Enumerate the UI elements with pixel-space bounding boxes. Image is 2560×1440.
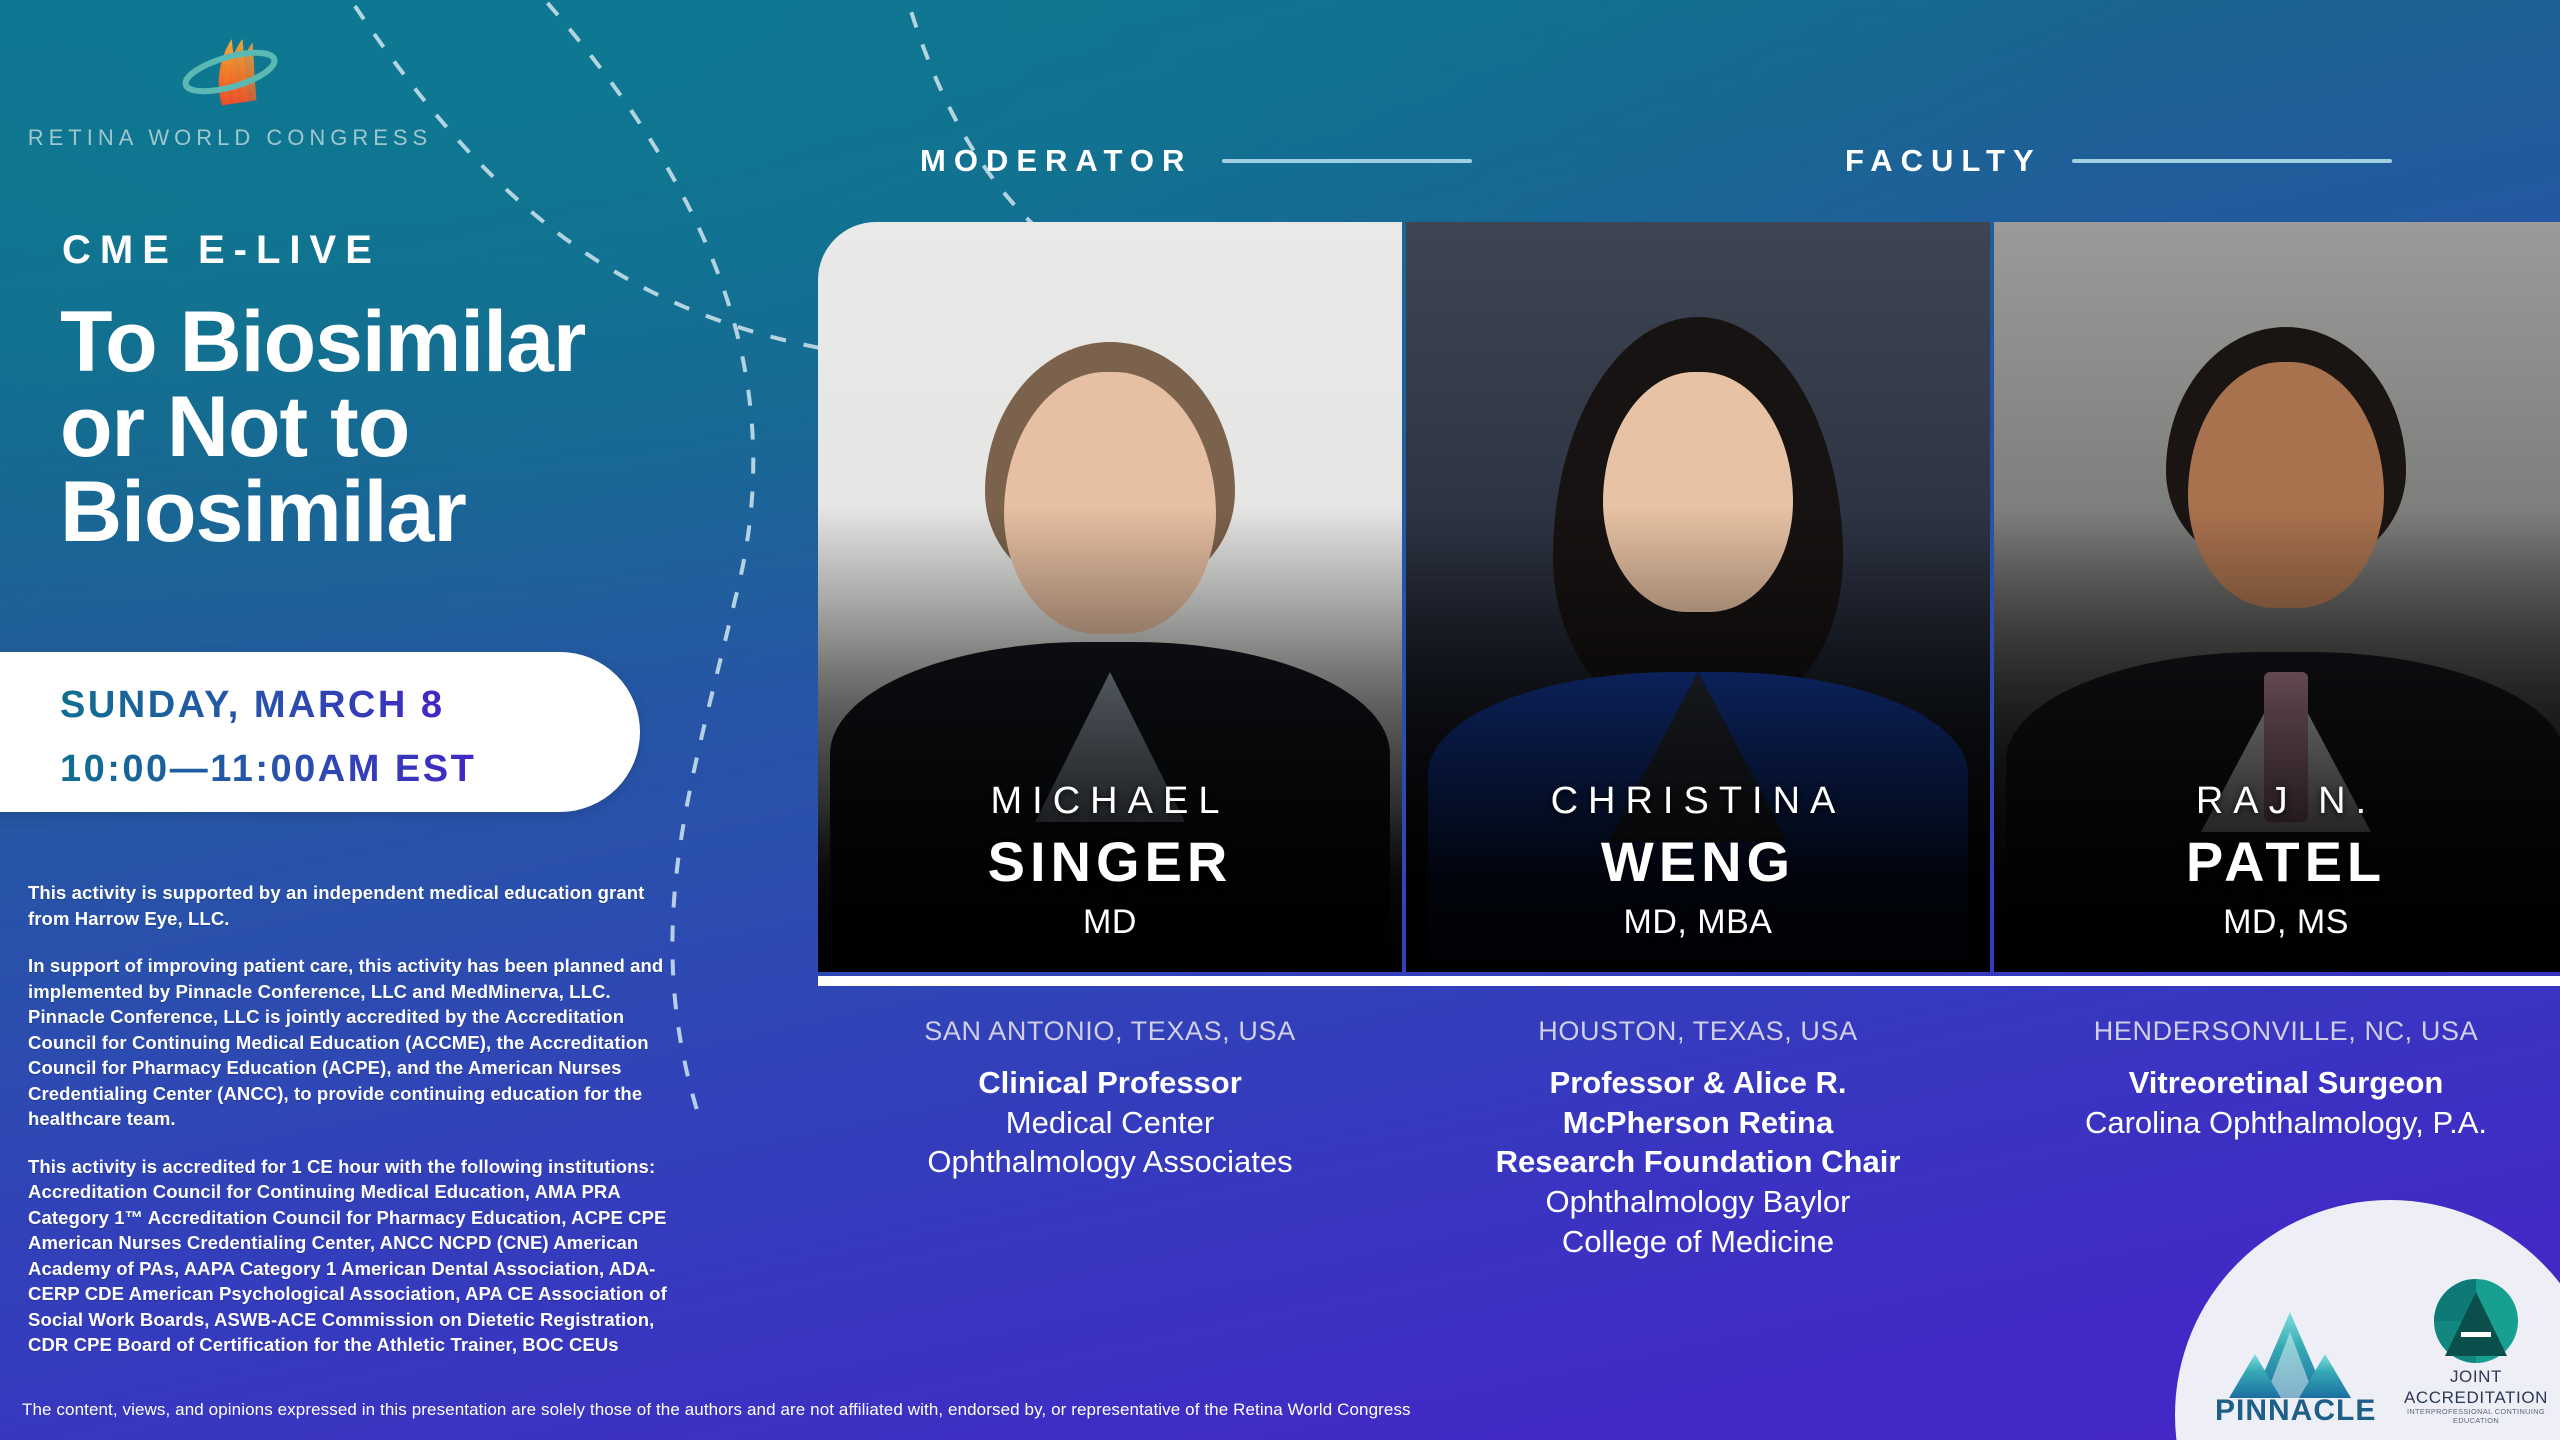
faculty-label: FACULTY xyxy=(1845,143,2042,179)
speaker-name-block: CHRISTINA WENG MD, MBA xyxy=(1406,775,1990,948)
joint-accreditation-triangle-circle-icon xyxy=(2433,1278,2519,1364)
speaker-org-line: Ophthalmology Associates xyxy=(834,1142,1386,1182)
speaker-city: HENDERSONVILLE, NC, USA xyxy=(2010,1016,2560,1047)
speaker-photo-card: RAJ N. PATEL MD, MS xyxy=(1994,222,2560,972)
speaker-name-block: RAJ N. PATEL MD, MS xyxy=(1994,775,2560,948)
speaker-bio: HOUSTON, TEXAS, USA Professor & Alice R.… xyxy=(1406,1016,1990,1261)
speaker-bio: SAN ANTONIO, TEXAS, USA Clinical Profess… xyxy=(818,1016,1402,1261)
speaker-role-line: McPherson Retina xyxy=(1422,1103,1974,1143)
title-line-2: or Not to xyxy=(60,385,780,470)
retina-world-congress-planet-icon xyxy=(166,26,294,118)
event-date: SUNDAY, MARCH 8 xyxy=(60,684,445,727)
speaker-org-line: Medical Center xyxy=(834,1103,1386,1143)
speaker-role: Clinical Professor xyxy=(834,1063,1386,1103)
speaker-city: SAN ANTONIO, TEXAS, USA xyxy=(834,1016,1386,1047)
speaker-photo-strip: MICHAEL SINGER MD CHRISTINA xyxy=(818,222,2560,972)
speaker-last-name: PATEL xyxy=(1994,827,2560,897)
speaker-name-block: MICHAEL SINGER MD xyxy=(818,775,1402,948)
fineprint-paragraph-3: This activity is accredited for 1 CE hou… xyxy=(28,1154,678,1358)
speaker-degrees: MD, MBA xyxy=(1406,897,1990,948)
fineprint-paragraph-1: This activity is supported by an indepen… xyxy=(28,880,678,931)
speaker-last-name: WENG xyxy=(1406,827,1990,897)
speaker-first-name: CHRISTINA xyxy=(1406,775,1990,827)
role-label-faculty: FACULTY xyxy=(1845,142,2392,180)
speaker-degrees: MD xyxy=(818,897,1402,948)
moderator-label: MODERATOR xyxy=(920,143,1192,179)
pinnacle-mountain-icon xyxy=(2215,1310,2365,1400)
speaker-role-line: Research Foundation Chair xyxy=(1422,1142,1974,1182)
disclaimer-text: The content, views, and opinions express… xyxy=(22,1400,2522,1420)
speaker-photo-card: CHRISTINA WENG MD, MBA xyxy=(1406,222,1990,972)
accreditation-fineprint: This activity is supported by an indepen… xyxy=(28,880,678,1380)
speaker-first-name: RAJ N. xyxy=(1994,775,2560,827)
brand-logo: RETINA WORLD CONGRESS xyxy=(0,26,460,151)
photo-strip-underline xyxy=(818,976,2560,986)
speaker-last-name: SINGER xyxy=(818,827,1402,897)
speaker-org-line: Ophthalmology Baylor xyxy=(1422,1182,1974,1222)
speaker-role-line: Professor & Alice R. xyxy=(1422,1063,1974,1103)
speaker-city: HOUSTON, TEXAS, USA xyxy=(1422,1016,1974,1047)
poster-root: RETINA WORLD CONGRESS CME E-LIVE To Bios… xyxy=(0,0,2560,1440)
speaker-org-line: College of Medicine xyxy=(1422,1222,1974,1262)
title-line-3: Biosimilar xyxy=(60,470,780,555)
role-label-moderator: MODERATOR xyxy=(920,142,1472,180)
speaker-first-name: MICHAEL xyxy=(818,775,1402,827)
moderator-divider-rule xyxy=(1222,159,1472,163)
fineprint-paragraph-2: In support of improving patient care, th… xyxy=(28,953,678,1132)
speaker-org-line: Carolina Ophthalmology, P.A. xyxy=(2010,1103,2560,1143)
left-column: RETINA WORLD CONGRESS CME E-LIVE To Bios… xyxy=(0,0,800,1440)
faculty-divider-rule xyxy=(2072,159,2392,163)
date-time-pill: SUNDAY, MARCH 8 10:00—11:00AM EST xyxy=(0,652,640,812)
kicker-cme-e-live: CME E-LIVE xyxy=(62,228,381,273)
page-title: To Biosimilar or Not to Biosimilar xyxy=(60,300,780,555)
event-time: 10:00—11:00AM EST xyxy=(60,748,476,791)
title-line-1: To Biosimilar xyxy=(60,300,780,385)
speaker-degrees: MD, MS xyxy=(1994,897,2560,948)
brand-name: RETINA WORLD CONGRESS xyxy=(0,125,460,151)
speaker-photo-card: MICHAEL SINGER MD xyxy=(818,222,1402,972)
speaker-role: Vitreoretinal Surgeon xyxy=(2010,1063,2560,1103)
